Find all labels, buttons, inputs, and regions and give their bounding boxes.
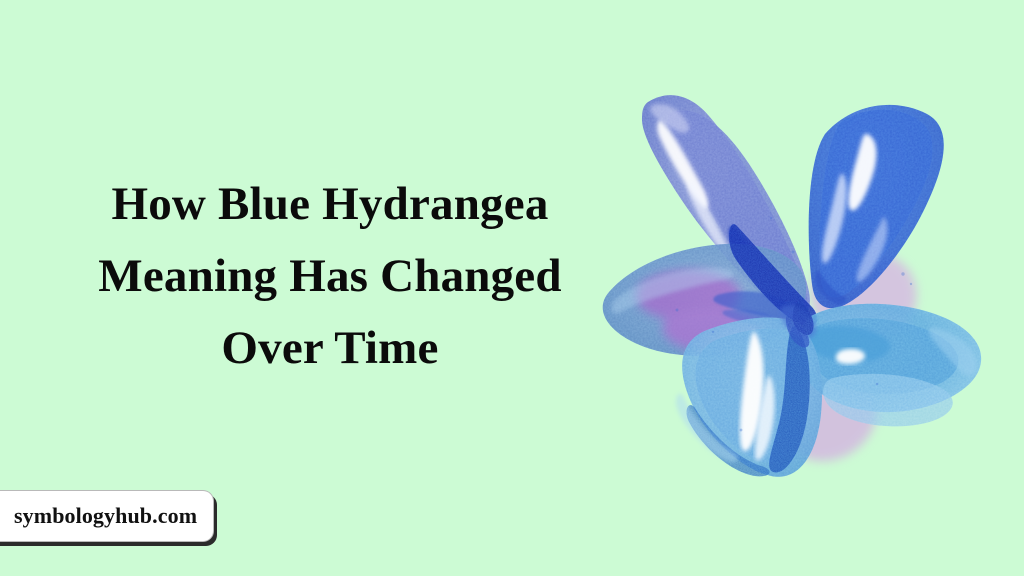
hydrangea-flower-illustration [585, 78, 995, 493]
site-watermark-badge[interactable]: symbologyhub.com [0, 490, 214, 542]
title-line-3: Over Time [30, 312, 630, 384]
site-watermark-label: symbologyhub.com [14, 503, 197, 529]
petal-upper-right [809, 105, 944, 308]
featured-image-canvas: How Blue Hydrangea Meaning Has Changed O… [0, 0, 1024, 576]
title-line-2: Meaning Has Changed [30, 240, 630, 312]
page-title: How Blue Hydrangea Meaning Has Changed O… [30, 168, 630, 384]
title-line-1: How Blue Hydrangea [30, 168, 630, 240]
